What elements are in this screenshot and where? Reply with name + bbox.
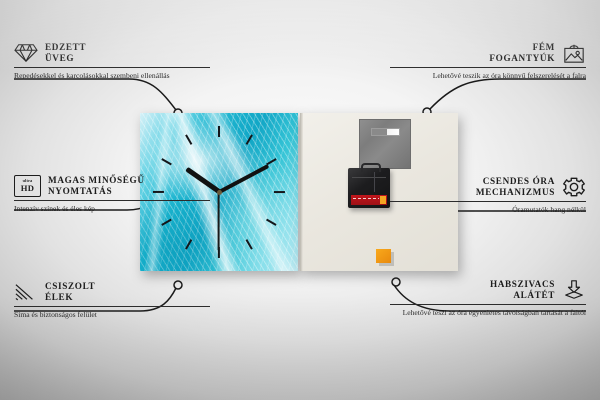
hanger-slot	[371, 128, 400, 136]
hour-marker-bar	[274, 191, 285, 193]
feature-tempered-glass: EDZETT ÜVEG Repedésekkel és karcolásokka…	[14, 42, 210, 80]
second-hand	[218, 192, 220, 250]
picture-hanger-icon	[562, 42, 586, 64]
feature-high-quality-print: ultra HD MAGAS MINŐSÉGŰ NYOMTATÁS Intenz…	[14, 175, 210, 213]
hour-marker	[219, 191, 285, 193]
metal-hanger-plate	[359, 119, 411, 169]
feature-subtitle: Intenzív színek és éles kép	[14, 204, 210, 213]
feature-foam-pad: HABSZIVACS ALÁTÉT Lehetővé teszi az óra …	[390, 279, 586, 317]
feature-silent-mechanism: CSENDES ÓRA MECHANIZMUS Óramutatók hang …	[390, 176, 586, 214]
ultra-hd-icon: ultra HD	[14, 175, 41, 197]
feature-rule	[14, 67, 210, 68]
feature-header: CSISZOLT ÉLEK	[14, 281, 210, 303]
feature-title: CSENDES ÓRA MECHANIZMUS	[476, 176, 555, 197]
hour-marker-bar	[246, 239, 253, 249]
feature-title: HABSZIVACS ALÁTÉT	[490, 279, 555, 300]
feature-subtitle: Óramutatók hang nélkül	[390, 205, 586, 214]
hour-marker-bar	[185, 134, 192, 144]
feature-header: FÉM FOGANTYÚK	[390, 42, 586, 64]
feature-subtitle: Sima és biztonságos felület	[14, 310, 210, 319]
feature-title: CSISZOLT ÉLEK	[45, 281, 95, 302]
mechanism-seam-vertical	[374, 172, 375, 192]
hour-marker-bar	[246, 134, 253, 144]
battery-label	[351, 195, 387, 205]
foam-pad	[376, 249, 391, 263]
hour-marker-bar	[161, 219, 171, 226]
feature-title: MAGAS MINŐSÉGŰ NYOMTATÁS	[48, 175, 145, 196]
feature-rule	[390, 201, 586, 202]
feature-metal-handles: FÉM FOGANTYÚK Lehetővé teszik az óra kön…	[390, 42, 586, 80]
feature-subtitle: Repedésekkel és karcolásokkal szembeni e…	[14, 71, 210, 80]
feature-header: HABSZIVACS ALÁTÉT	[390, 279, 586, 301]
feature-title: FÉM FOGANTYÚK	[489, 42, 555, 63]
infographic-canvas: EDZETT ÜVEG Repedésekkel és karcolásokka…	[0, 0, 600, 400]
hour-marker	[218, 126, 220, 192]
feature-rule	[14, 306, 210, 307]
hour-marker-bar	[218, 126, 220, 137]
battery-label-text	[353, 198, 379, 199]
gear-icon	[562, 176, 586, 198]
diamond-icon	[14, 42, 38, 64]
connector-tempered-glass	[14, 79, 176, 110]
panel-edge	[300, 113, 303, 271]
polished-edges-icon	[14, 281, 38, 303]
feature-rule	[14, 200, 210, 201]
feature-subtitle: Lehetővé teszi az óra egyenletes távolsá…	[390, 308, 586, 317]
feature-header: EDZETT ÜVEG	[14, 42, 210, 64]
feature-rule	[390, 304, 586, 305]
mechanism-hook	[361, 163, 381, 172]
center-cap	[217, 190, 222, 195]
feature-header: CSENDES ÓRA MECHANIZMUS	[390, 176, 586, 198]
feature-subtitle: Lehetővé teszik az óra könnyű felszerelé…	[390, 71, 586, 80]
hour-marker-bar	[185, 239, 192, 249]
connector-metal-handles	[430, 79, 586, 109]
clock-mechanism	[348, 168, 390, 208]
mechanism-seam	[352, 177, 386, 178]
feature-header: ultra HD MAGAS MINŐSÉGŰ NYOMTATÁS	[14, 175, 210, 197]
hour-marker-bar	[266, 219, 276, 226]
feature-rule	[390, 67, 586, 68]
hour-marker-bar	[161, 158, 171, 165]
foam-pad-icon	[562, 279, 586, 301]
feature-title: EDZETT ÜVEG	[45, 42, 86, 63]
feature-polished-edges: CSISZOLT ÉLEK Sima és biztonságos felüle…	[14, 281, 210, 319]
